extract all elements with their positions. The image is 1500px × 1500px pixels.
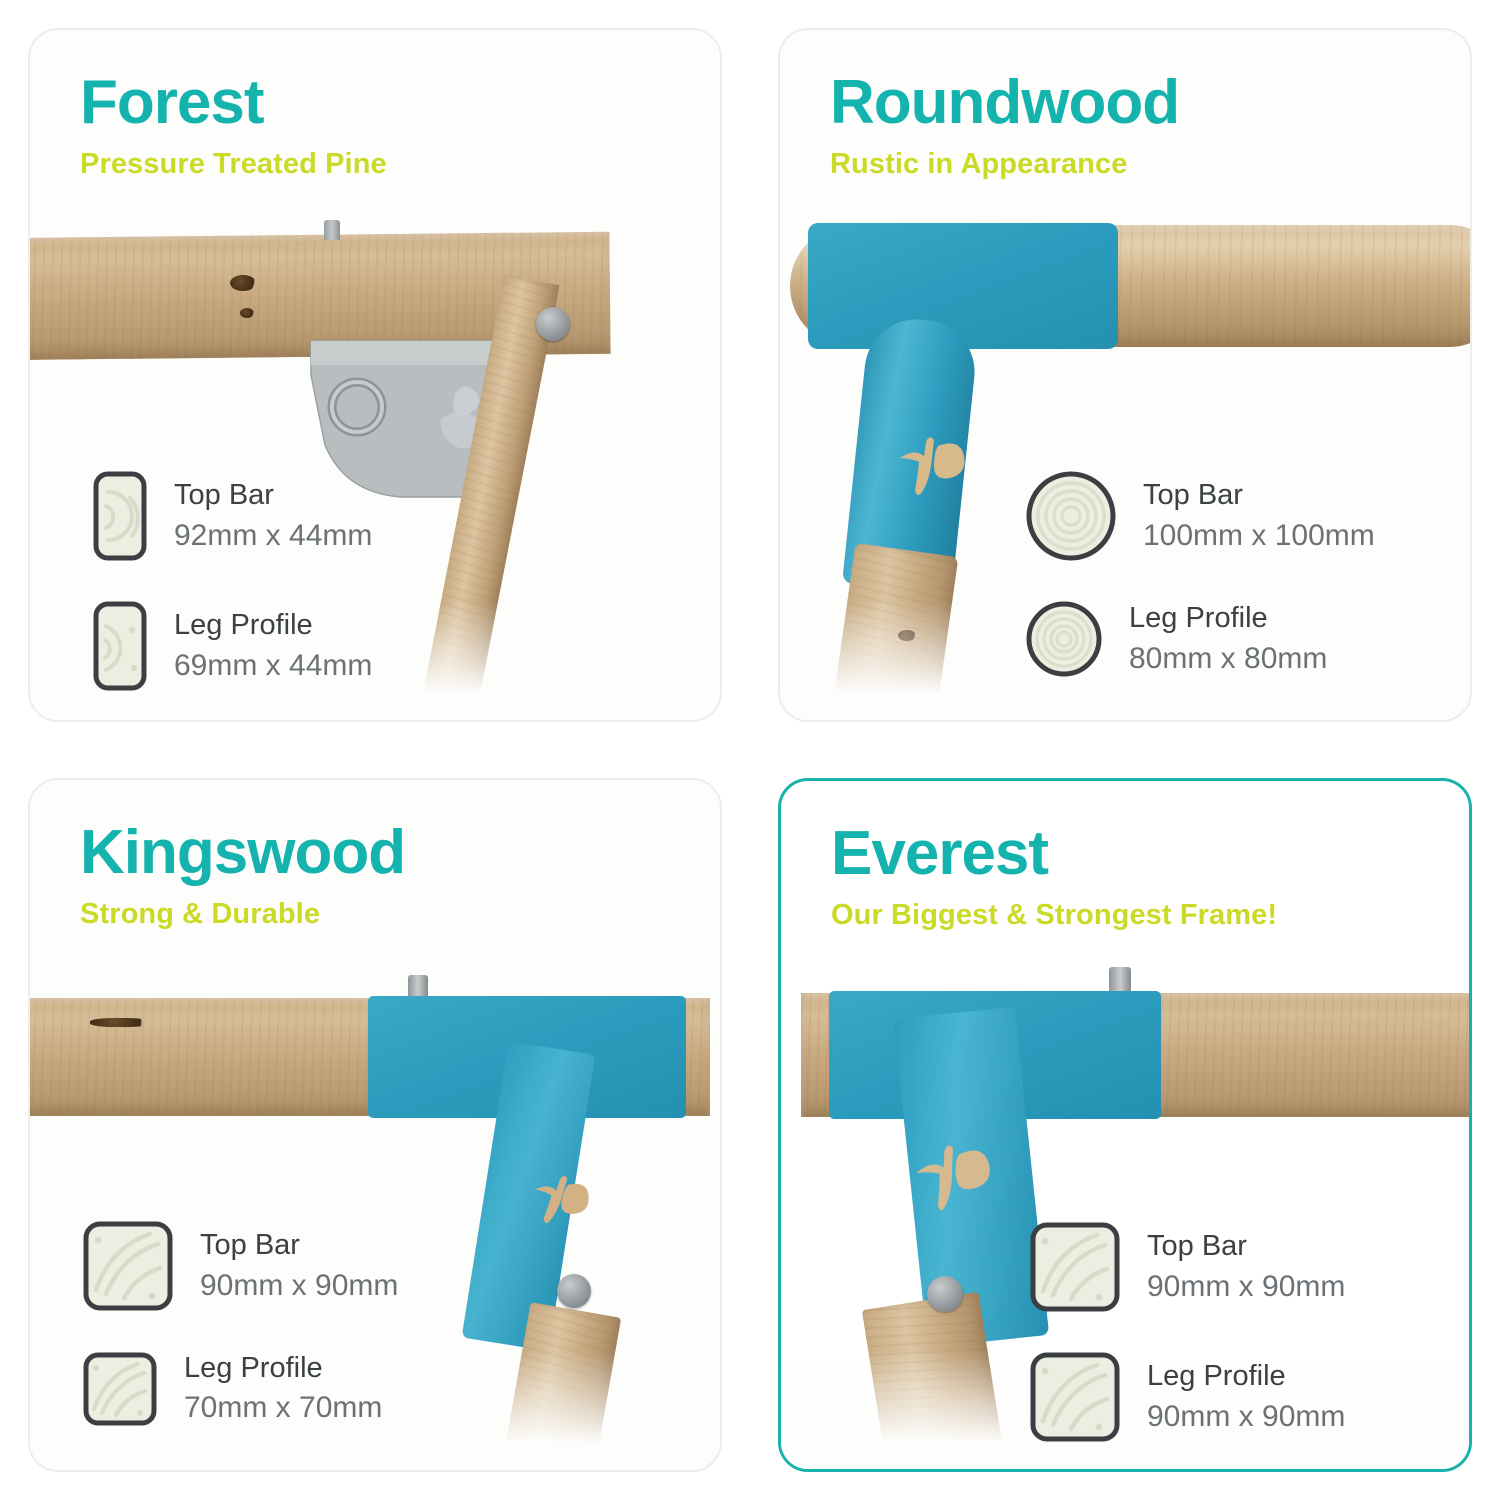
- wood-knot-icon: [90, 1018, 150, 1027]
- wood-knot-icon: [949, 1461, 973, 1472]
- logo-bolt-icon: [557, 1274, 591, 1308]
- card-subtitle: Rustic in Appearance: [830, 148, 1179, 181]
- kingswood-leg: [480, 1302, 621, 1472]
- spec-row-top-bar: Top Bar 90mm x 90mm: [1029, 1221, 1345, 1313]
- everest-leg-bracket: [893, 1007, 1049, 1348]
- bolt-head-icon: [324, 220, 340, 240]
- spec-text: Top Bar 92mm x 44mm: [174, 477, 372, 554]
- log-end-circle-icon: [1025, 470, 1117, 562]
- bolt-head-icon: [408, 975, 428, 999]
- product-card-everest[interactable]: Everest Our Biggest & Strongest Frame!: [778, 778, 1472, 1472]
- spec-dimensions: 80mm x 80mm: [1129, 639, 1327, 678]
- spec-list-forest: Top Bar 92mm x 44mm: [92, 470, 372, 692]
- timber-profile-tall-rect-icon: [92, 470, 148, 562]
- card-header-roundwood: Roundwood Rustic in Appearance: [830, 72, 1179, 181]
- card-cell-roundwood: Roundwood Rustic in Appearance Top Bar 1…: [750, 0, 1500, 750]
- forest-leg: [413, 275, 560, 722]
- everest-leg: [862, 1292, 1025, 1472]
- card-title: Forest: [80, 72, 387, 134]
- spec-row-leg-profile: Leg Profile 80mm x 80mm: [1025, 600, 1375, 678]
- spec-list-roundwood: Top Bar 100mm x 100mm Leg Profile: [1025, 470, 1375, 678]
- spec-text: Top Bar 90mm x 90mm: [1147, 1228, 1345, 1305]
- spec-dimensions: 90mm x 90mm: [200, 1266, 398, 1305]
- wood-knot-icon: [898, 630, 916, 641]
- tp-toys-logo-cutout-icon: [890, 420, 980, 510]
- tp-toys-logo-cutout-icon: [904, 1126, 1009, 1228]
- card-subtitle: Strong & Durable: [80, 898, 405, 931]
- roundwood-leg-bracket: [842, 314, 980, 594]
- card-header-kingswood: Kingswood Strong & Durable: [80, 822, 405, 931]
- tp-toys-logo-cutout-icon: [521, 1157, 606, 1242]
- spec-label: Leg Profile: [1129, 600, 1327, 636]
- card-cell-forest: Forest Pressure Treated Pine Top Bar: [0, 0, 750, 750]
- roundwood-leg: [819, 543, 958, 722]
- spec-row-top-bar: Top Bar 90mm x 90mm: [82, 1220, 398, 1312]
- spec-dimensions: 90mm x 90mm: [1147, 1267, 1345, 1306]
- timber-profile-tall-rect-icon: [92, 600, 148, 692]
- product-card-kingswood[interactable]: Kingswood Strong & Durable: [28, 778, 722, 1472]
- spec-dimensions: 69mm x 44mm: [174, 646, 372, 685]
- wood-knot-icon: [230, 275, 256, 291]
- spec-label: Leg Profile: [1147, 1358, 1345, 1394]
- card-subtitle: Pressure Treated Pine: [80, 148, 387, 181]
- kingswood-leg-bracket: [462, 1041, 596, 1351]
- spec-dimensions: 100mm x 100mm: [1143, 516, 1375, 555]
- spec-text: Top Bar 100mm x 100mm: [1143, 477, 1375, 554]
- product-card-forest[interactable]: Forest Pressure Treated Pine Top Bar: [28, 28, 722, 722]
- everest-top-bar: [801, 993, 1472, 1117]
- card-subtitle: Our Biggest & Strongest Frame!: [831, 899, 1277, 932]
- product-card-roundwood[interactable]: Roundwood Rustic in Appearance Top Bar 1…: [778, 28, 1472, 722]
- logo-bolt-icon: [927, 1276, 963, 1312]
- spec-row-leg-profile: Leg Profile 90mm x 90mm: [1029, 1351, 1345, 1443]
- spec-label: Top Bar: [200, 1227, 398, 1263]
- card-header-everest: Everest Our Biggest & Strongest Frame!: [831, 823, 1277, 932]
- forest-top-bar: [28, 232, 611, 360]
- spec-dimensions: 70mm x 70mm: [184, 1388, 382, 1427]
- spec-row-top-bar: Top Bar 92mm x 44mm: [92, 470, 372, 562]
- card-cell-kingswood: Kingswood Strong & Durable: [0, 750, 750, 1500]
- spec-text: Leg Profile 80mm x 80mm: [1129, 600, 1327, 677]
- hex-bolt-icon: [536, 307, 570, 341]
- spec-list-everest: Top Bar 90mm x 90mm: [1029, 1221, 1345, 1443]
- spec-text: Leg Profile 70mm x 70mm: [184, 1350, 382, 1427]
- card-title: Kingswood: [80, 822, 405, 884]
- spec-row-leg-profile: Leg Profile 70mm x 70mm: [82, 1350, 398, 1427]
- roundwood-top-bar: [790, 225, 1472, 347]
- frame-comparison-grid: Forest Pressure Treated Pine Top Bar: [0, 0, 1500, 1500]
- card-title: Everest: [831, 823, 1277, 885]
- log-end-circle-icon: [1025, 600, 1103, 678]
- spec-label: Top Bar: [1147, 1228, 1345, 1264]
- timber-profile-square-icon: [1029, 1351, 1121, 1443]
- timber-profile-square-icon: [82, 1220, 174, 1312]
- timber-profile-square-icon: [1029, 1221, 1121, 1313]
- everest-top-bracket: [829, 991, 1161, 1119]
- spec-label: Leg Profile: [184, 1350, 382, 1386]
- spec-row-leg-profile: Leg Profile 69mm x 44mm: [92, 600, 372, 692]
- spec-label: Top Bar: [1143, 477, 1375, 513]
- spec-label: Leg Profile: [174, 607, 372, 643]
- wood-knot-icon: [240, 308, 254, 318]
- roundwood-top-bracket: [808, 223, 1118, 349]
- kingswood-top-bracket: [368, 996, 686, 1118]
- spec-text: Leg Profile 69mm x 44mm: [174, 607, 372, 684]
- spec-list-kingswood: Top Bar 90mm x 90mm: [82, 1220, 398, 1427]
- spec-dimensions: 92mm x 44mm: [174, 516, 372, 555]
- spec-text: Top Bar 90mm x 90mm: [200, 1227, 398, 1304]
- card-title: Roundwood: [830, 72, 1179, 134]
- timber-profile-square-icon: [82, 1351, 158, 1427]
- spec-label: Top Bar: [174, 477, 372, 513]
- bolt-head-icon: [1109, 967, 1131, 993]
- spec-dimensions: 90mm x 90mm: [1147, 1397, 1345, 1436]
- kingswood-top-bar: [28, 998, 710, 1116]
- card-header-forest: Forest Pressure Treated Pine: [80, 72, 387, 181]
- spec-row-top-bar: Top Bar 100mm x 100mm: [1025, 470, 1375, 562]
- spec-text: Leg Profile 90mm x 90mm: [1147, 1358, 1345, 1435]
- card-cell-everest: Everest Our Biggest & Strongest Frame!: [750, 750, 1500, 1500]
